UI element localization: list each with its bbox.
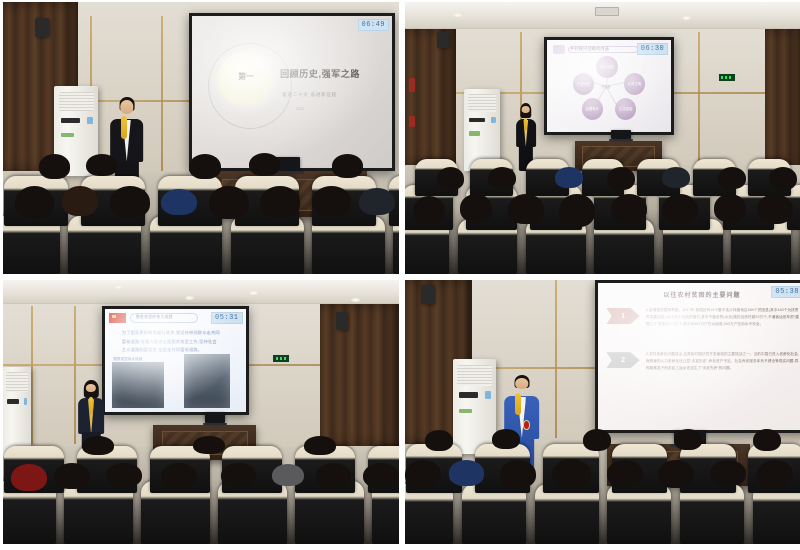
aircon-indicator: [491, 117, 496, 124]
slide-header-chip: [553, 45, 565, 54]
audience-head: [753, 429, 781, 451]
slide-heading: 脱贫攻坚的伟大成就: [136, 315, 173, 320]
audience-head: [607, 460, 643, 487]
aircon-display: [469, 118, 485, 123]
audience-head: [460, 194, 492, 221]
audience-head: [583, 429, 611, 451]
audience-head: [437, 167, 465, 190]
slide-circle-label: 第一: [228, 71, 264, 82]
photo-panel-bottom-left: 脱贫攻坚的伟大成就 为了国家更好的发展与进步,党坚持带领群众走共同富裕道路,党着…: [3, 280, 399, 544]
audience-head: [552, 459, 592, 489]
ceiling-light-icon: [249, 291, 258, 295]
diagram-node: 产业兴旺: [573, 73, 594, 95]
ceiling: [3, 280, 399, 304]
microphone: [515, 393, 521, 416]
gold-trim-vertical: [74, 306, 76, 443]
aircon-display: [61, 118, 81, 123]
ceiling-light-icon: [453, 13, 462, 17]
microphone: [89, 397, 93, 413]
audience-head: [249, 153, 281, 177]
audience-head: [161, 463, 197, 489]
presenter-head: [120, 100, 133, 113]
presenter-head: [515, 378, 529, 389]
exit-sign: [272, 354, 290, 363]
slide-surface: 第一 回顾历史,强军之路 喜迎二十大 奋进新征程 2022 06:49: [192, 16, 392, 168]
slide-timer: 06:49: [358, 19, 390, 31]
slide-photo: [184, 354, 230, 407]
audience: [405, 428, 800, 544]
audience-head: [757, 460, 793, 488]
audience-head: [674, 429, 702, 450]
audience-head: [714, 194, 746, 221]
list-number-arrow: 2: [606, 352, 639, 368]
wall-speaker-icon: [437, 32, 449, 48]
audience-head: [304, 436, 336, 455]
aircon-indicator: [485, 391, 491, 399]
audience-head: [106, 463, 142, 487]
diagram-center-label: 内涵: [601, 84, 610, 90]
photo-collage: 第一 回顾历史,强军之路 喜迎二十大 奋进新征程 2022 06:49: [0, 0, 800, 550]
audience-head: [209, 186, 249, 219]
microphone: [121, 116, 126, 139]
aircon-vent: [6, 372, 28, 392]
audience-head: [492, 429, 520, 449]
ceiling-projector: [595, 7, 619, 15]
fire-extinguisher: [409, 116, 415, 127]
audience-head: [757, 194, 793, 224]
diagram-node: 生态宜居: [596, 56, 617, 78]
audience-head: [161, 189, 197, 215]
ceiling-light-icon: [185, 296, 194, 300]
slide-surface: 乡村振兴战略的内涵 生态宜居 产业兴旺 乡风文明 治理有效 生活富裕 内涵 06…: [547, 40, 672, 132]
audience-head: [221, 463, 257, 487]
audience-head: [559, 194, 595, 227]
audience-head: [62, 186, 98, 216]
fire-extinguisher: [409, 78, 415, 92]
audience-head: [312, 186, 352, 216]
audience-head: [611, 194, 647, 223]
audience-head: [658, 460, 694, 488]
diagram-node: 生活富裕: [615, 98, 636, 120]
wood-panel-wall: [320, 304, 399, 447]
aircon-logo: [459, 409, 472, 414]
audience-head: [272, 464, 304, 486]
audience-head: [488, 167, 516, 189]
audience-head: [359, 188, 395, 216]
aircon-vent: [468, 94, 497, 112]
audience-head: [15, 186, 55, 219]
presenter-head: [521, 106, 530, 113]
slide-heading: 以往农村贫困的主要问题: [598, 290, 800, 299]
wall-speaker-icon: [35, 18, 49, 37]
audience-head: [405, 460, 441, 488]
slide-timer: 06:30: [637, 43, 669, 55]
aircon-vent: [457, 365, 492, 386]
aircon-indicator: [87, 117, 93, 124]
audience-head: [508, 194, 544, 224]
aircon-logo: [469, 131, 480, 135]
list-item-text: 2.农村老龄化问题突出,这是新时期扶贫开发面临的主要挑战之一。当前中国已进入老龄…: [646, 351, 800, 372]
audience-head: [11, 464, 47, 491]
slide-timer: 05:31: [211, 312, 243, 324]
audience-head: [449, 460, 485, 486]
projection-screen: 脱贫攻坚的伟大成就 为了国家更好的发展与进步,党坚持带领群众走共同富裕道路,党着…: [102, 306, 249, 414]
projection-screen: 以往农村贫困的主要问题 1 1.区域性的整体贫困。2017年,我国还有14个集中…: [595, 280, 800, 433]
audience-head: [316, 463, 352, 489]
aircon-vent: [59, 92, 94, 112]
audience-head: [82, 436, 114, 455]
photo-panel-bottom-right: 以往农村贫困的主要问题 1 1.区域性的整体贫困。2017年,我国还有14个集中…: [405, 280, 800, 544]
slide-year: 2022: [296, 107, 304, 111]
audience: [3, 149, 399, 274]
audience-head: [363, 463, 399, 488]
slide-photo: [112, 362, 164, 408]
audience-head: [189, 154, 221, 179]
audience-head: [555, 167, 583, 188]
audience-head: [769, 167, 797, 190]
ceiling-light-icon: [682, 16, 691, 20]
audience-head: [110, 186, 150, 217]
slide-heading: 乡村振兴战略的内涵: [570, 46, 609, 52]
audience-head: [39, 154, 71, 179]
aircon-display: [7, 399, 19, 404]
laptop: [611, 130, 631, 140]
diagram-node: 乡风文明: [624, 73, 645, 95]
audience-head: [413, 196, 445, 225]
photo-panel-top-right: 乡村振兴战略的内涵 生态宜居 产业兴旺 乡风文明 治理有效 生活富裕 内涵 06…: [405, 2, 800, 274]
slide-surface: 脱贫攻坚的伟大成就 为了国家更好的发展与进步,党坚持带领群众走共同富裕道路,党着…: [105, 309, 246, 411]
slide-heading: 回顾历史,强军之路: [280, 67, 360, 80]
audience-head: [662, 167, 690, 188]
audience-head: [260, 186, 300, 217]
projection-screen: 乡村振兴战略的内涵 生态宜居 产业兴旺 乡风文明 治理有效 生活富裕 内涵 06…: [544, 37, 675, 135]
audience-head: [710, 460, 746, 486]
audience: [405, 143, 800, 274]
audience: [3, 438, 399, 544]
aircon-logo: [61, 133, 74, 137]
flag-icon: [109, 313, 126, 322]
gold-trim-vertical: [555, 280, 557, 438]
audience-head: [193, 436, 225, 454]
slide-subheading: 喜迎二十大 奋进新征程: [282, 92, 337, 98]
laptop: [205, 412, 225, 423]
ceiling: [405, 2, 800, 29]
slide-body-text: 为了国家更好的发展与进步,党坚持带领群众走共同富裕道路,党着力推进全面脱贫攻坚工…: [122, 329, 220, 355]
aircon-display: [459, 392, 479, 398]
audience-head: [332, 154, 364, 178]
audience-head: [607, 167, 635, 190]
aircon-indicator: [24, 398, 28, 405]
audience-head: [54, 463, 90, 489]
list-number-arrow: 1: [606, 308, 639, 324]
list-item-text: 1.区域性的整体贫困。2017年,我国还有14个集中连片特困地区680个贫困县(…: [646, 307, 800, 328]
audience-head: [718, 167, 746, 189]
slide-surface: 以往农村贫困的主要问题 1 1.区域性的整体贫困。2017年,我国还有14个集中…: [598, 283, 800, 430]
slide-timer: 05:38: [771, 286, 800, 298]
wall-speaker-icon: [336, 312, 348, 330]
exit-sign: [718, 73, 736, 83]
wall-speaker-icon: [421, 285, 435, 303]
audience-head: [86, 154, 118, 177]
audience-head: [425, 430, 453, 451]
photo-panel-top-left: 第一 回顾历史,强军之路 喜迎二十大 奋进新征程 2022 06:49: [3, 2, 399, 274]
diagram-node: 治理有效: [582, 98, 603, 120]
audience-head: [500, 460, 536, 488]
gold-trim-vertical: [31, 306, 33, 443]
audience-head: [662, 194, 698, 224]
microphone: [524, 118, 527, 130]
projection-screen: 第一 回顾历史,强军之路 喜迎二十大 奋进新征程 2022 06:49: [189, 13, 395, 171]
